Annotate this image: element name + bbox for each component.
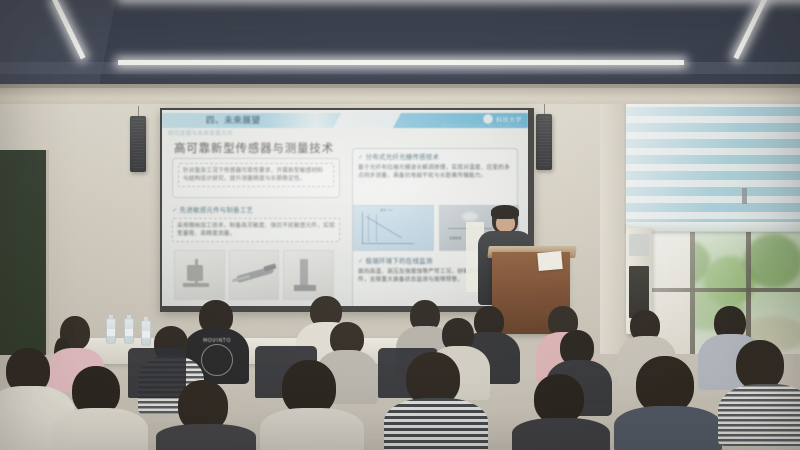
slide-header-wedge xyxy=(333,113,401,128)
slide-image-wavelength-plot: 波长 / nm xyxy=(353,205,434,251)
check-icon: ✓ xyxy=(358,153,364,161)
slide-image-fixture xyxy=(283,250,334,300)
led-strip-left xyxy=(52,0,85,59)
wall-seam xyxy=(46,150,49,355)
slide-left-column: 针对复杂工况下传感器可靠性要求，开展新型敏感材料与结构设计研究，提升测量精度与长… xyxy=(172,158,340,242)
slide-header: 四、未来展望 科技大学 UNIVERSITY OF SCIENCE AND TE… xyxy=(162,110,528,132)
slide-left-bullet-1-heading: ✓先进敏感元件与制备工艺 xyxy=(172,206,340,215)
slide-right-bullet-1-body: 基于光纤布拉格光栅波长解调原理，实现对温度、应变的多点同步测量，具备抗电磁干扰与… xyxy=(358,164,512,180)
plot-axis-label: 波长 / nm xyxy=(380,208,393,212)
bullet-heading-text: 极端环境下的在线监测 xyxy=(366,257,433,265)
slide-breadcrumb: 研究进展与未来发展方向 xyxy=(168,129,233,137)
speaker-wire-left xyxy=(138,106,139,116)
check-icon: ✓ xyxy=(358,257,364,265)
dispenser-tank xyxy=(629,234,649,256)
podium-papers xyxy=(537,251,562,271)
shirt-graphic-ring xyxy=(201,344,233,376)
slide-intro-dashed-box: 针对复杂工况下传感器可靠性要求，开展新型敏感材料与结构设计研究，提升测量精度与长… xyxy=(178,163,334,187)
blind-hem xyxy=(626,222,800,231)
shirt-graphic-text: MOVINTO xyxy=(195,338,239,344)
slide-image-sensor-diagram xyxy=(174,250,225,300)
ceiling-recess xyxy=(97,0,800,95)
conference-room-scene: 校风 严谨 求实 勤奋 创新 xyxy=(0,0,800,450)
wall-green-panel: 校风 严谨 求实 勤奋 创新 xyxy=(0,150,46,355)
slide-left-bullet-1-body: 采用微纳加工技术，制备高灵敏度、强抗干扰敏感元件，实现宽量程、高精度测量。 xyxy=(177,222,335,238)
photo-caption: 实验装置 xyxy=(450,236,462,240)
chair xyxy=(128,348,186,398)
speaker-wire-right xyxy=(544,104,545,114)
slide-right-bullet-1-heading: ✓分布式光纤光栅传感技术 xyxy=(358,153,512,162)
slide-image-fiber-probe xyxy=(229,250,280,300)
blind-sheen xyxy=(626,104,800,232)
led-strip-bottom xyxy=(118,60,684,65)
water-bottle[interactable] xyxy=(106,318,116,344)
water-bottle[interactable] xyxy=(141,320,151,346)
ceiling xyxy=(0,0,800,96)
check-icon: ✓ xyxy=(172,206,178,214)
soffit-edge xyxy=(0,84,800,88)
wall-speaker-right xyxy=(536,114,552,170)
logo-emblem-icon xyxy=(483,114,493,124)
wall-speaker-left xyxy=(130,116,146,172)
slide-left-image-row xyxy=(174,250,334,300)
water-bottle[interactable] xyxy=(124,318,134,344)
blind-cord[interactable] xyxy=(742,188,747,204)
presenter-hair xyxy=(491,205,519,219)
slide-intro-text: 针对复杂工况下传感器可靠性要求，开展新型敏感材料与结构设计研究，提升测量精度与长… xyxy=(183,167,329,183)
slide-left-bullet-1: ✓先进敏感元件与制备工艺 采用微纳加工技术，制备高灵敏度、强抗干扰敏感元件，实现… xyxy=(172,206,340,242)
slide-intro-card: 针对复杂工况下传感器可靠性要求，开展新型敏感材料与结构设计研究，提升测量精度与长… xyxy=(172,158,340,198)
slide-left-bullet-1-box: 采用微纳加工技术，制备高灵敏度、强抗干扰敏感元件，实现宽量程、高精度测量。 xyxy=(172,218,340,242)
bullet-heading-text: 先进敏感元件与制备工艺 xyxy=(180,206,254,214)
logo-text: 科技大学 xyxy=(496,115,522,124)
university-logo: 科技大学 xyxy=(483,114,522,124)
slide-header-title: 四、未来展望 xyxy=(206,114,261,126)
window-pillar xyxy=(600,104,628,354)
slide-title: 高可靠新型传感器与测量技术 xyxy=(174,140,334,156)
bullet-heading-text: 分布式光纤光栅传感技术 xyxy=(366,153,440,161)
logo-english-text: UNIVERSITY OF SCIENCE AND TECHNOLOGY xyxy=(441,124,522,128)
